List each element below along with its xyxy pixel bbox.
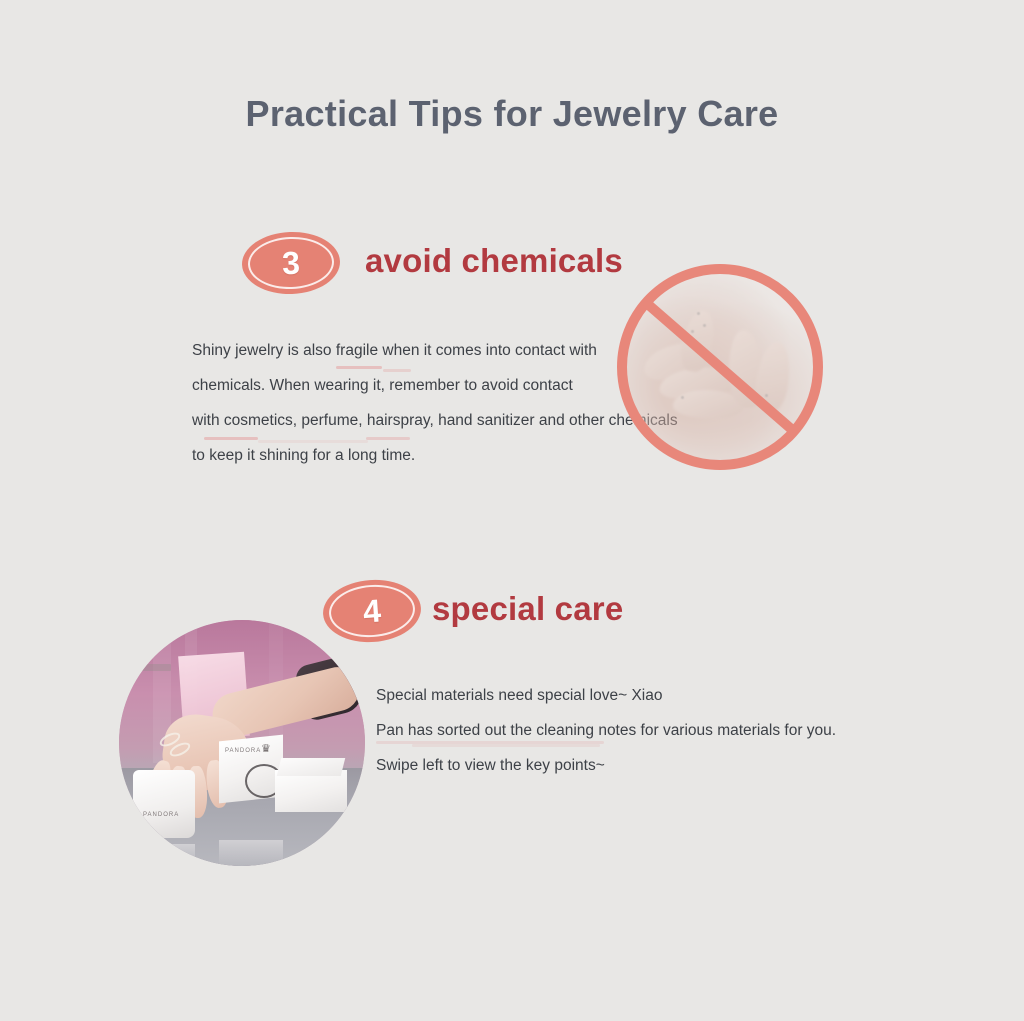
section-heading-avoid-chemicals: avoid chemicals — [365, 242, 623, 280]
no-chemicals-sign-icon — [617, 264, 823, 470]
body-line: to keep it shining for a long time. — [192, 438, 622, 473]
open-box-base — [275, 770, 347, 812]
body-line: chemicals. When wearing it, remember to … — [192, 368, 622, 403]
body-line: Special materials need special love~ Xia… — [376, 678, 876, 713]
page-title: Practical Tips for Jewelry Care — [0, 93, 1024, 135]
brand-label: PANDORA — [225, 748, 261, 754]
body-line: Swipe left to view the key points~ — [376, 748, 876, 783]
section-body-avoid-chemicals: Shiny jewelry is also fragile when it co… — [192, 333, 622, 473]
section-body-special-care: Special materials need special love~ Xia… — [376, 678, 876, 783]
body-line: Pan has sorted out the cleaning notes fo… — [376, 713, 876, 748]
slide-canvas: Practical Tips for Jewelry Care 3 avoid … — [0, 0, 1024, 1021]
section-heading-special-care: special care — [432, 590, 623, 628]
jewelry-boxes-photo: PANDORA ♛ PANDORA — [119, 620, 365, 866]
body-line: with cosmetics, perfume, hairspray, hand… — [192, 403, 622, 438]
pandora-jar — [133, 770, 195, 838]
open-box-lid — [277, 758, 345, 776]
step-number-3: 3 — [282, 247, 301, 280]
jar-brand-label: PANDORA — [143, 812, 179, 818]
step-number-badge-3: 3 — [241, 230, 341, 295]
body-line: Shiny jewelry is also fragile when it co… — [192, 333, 622, 368]
